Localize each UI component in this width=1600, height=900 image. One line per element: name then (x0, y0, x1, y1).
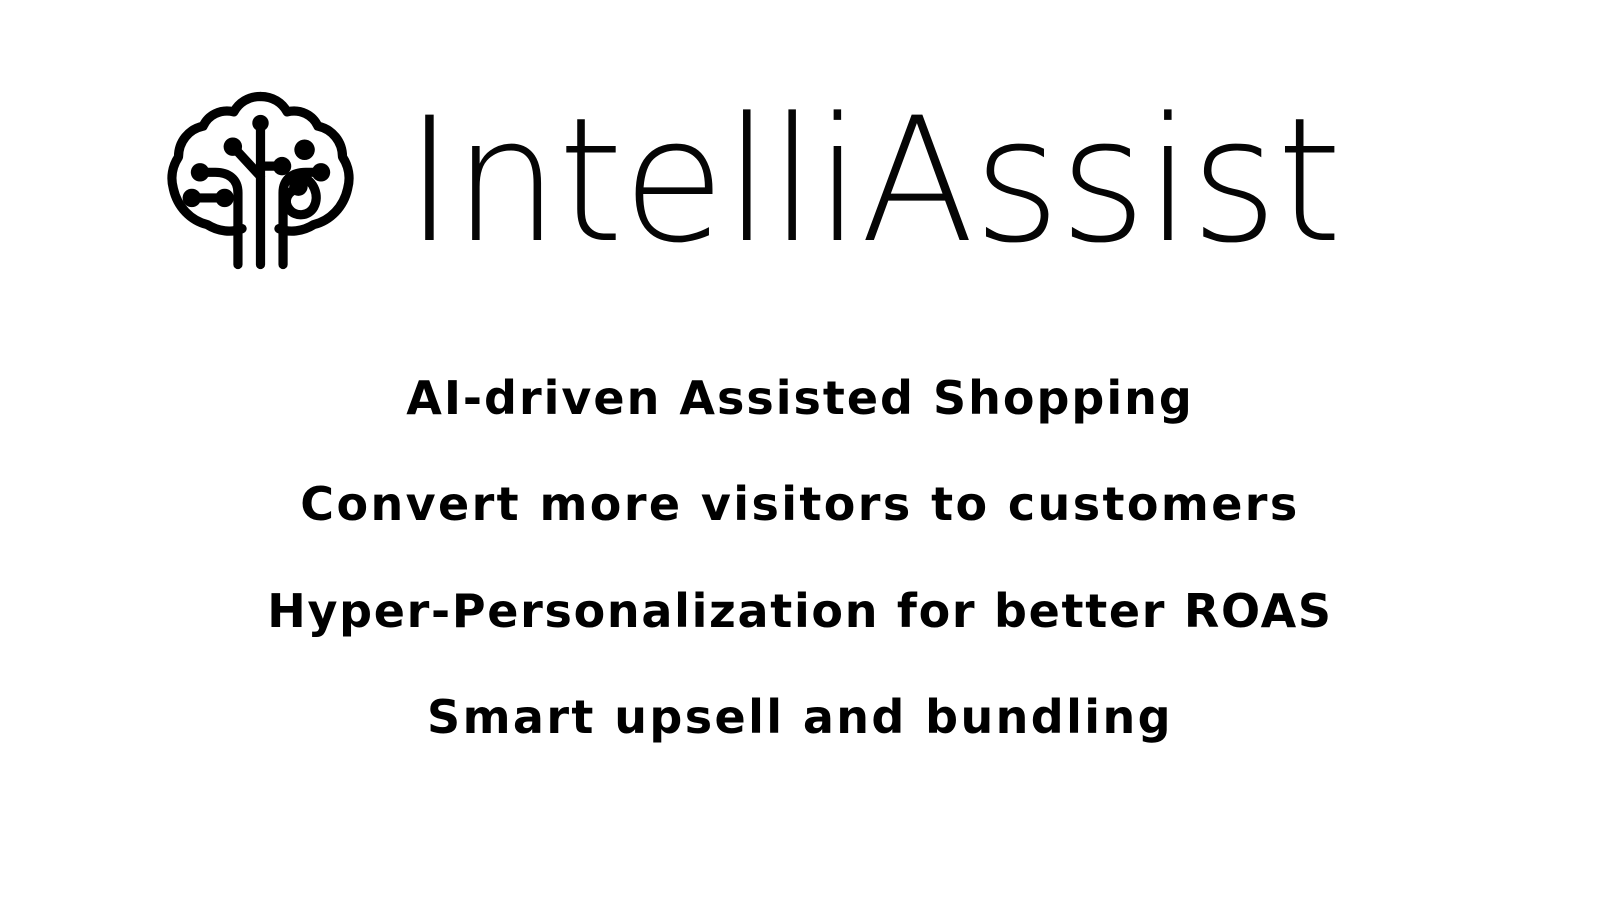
tagline-convert: Convert more visitors to customers (0, 450, 1600, 558)
logo-lockup: IntelliAssist (0, 78, 1600, 283)
brain-tree-circuit-icon (158, 78, 363, 283)
tagline-personalization: Hyper-Personalization for better ROAS (0, 558, 1600, 664)
tagline-upsell: Smart upsell and bundling (0, 664, 1600, 770)
tagline-list: AI-driven Assisted Shopping Convert more… (0, 346, 1600, 770)
tagline-ai-driven: AI-driven Assisted Shopping (0, 346, 1600, 450)
brand-wordmark: IntelliAssist (405, 95, 1341, 267)
brand-slide: IntelliAssist AI-driven Assisted Shoppin… (0, 0, 1600, 900)
